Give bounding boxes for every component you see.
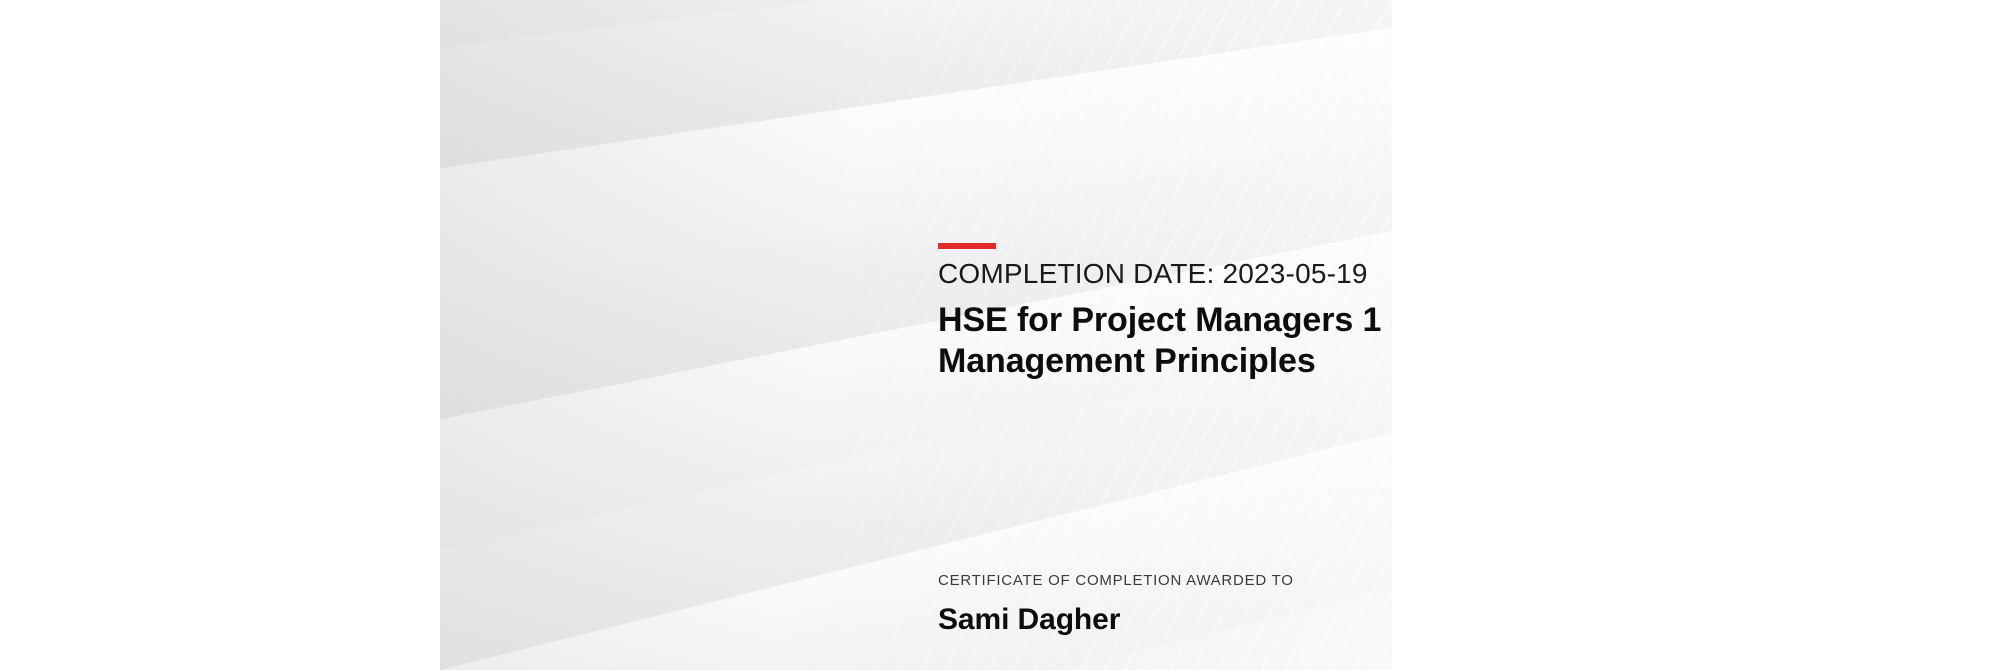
awarded-to-label: CERTIFICATE OF COMPLETION AWARDED TO xyxy=(938,572,1294,589)
red-accent-bar xyxy=(938,243,996,249)
screenshot-root: COMPLETION DATE: 2023-05-19 HSE for Proj… xyxy=(0,0,2012,670)
course-title: HSE for Project Managers 1 - HSE Managem… xyxy=(938,300,1392,383)
certificate-card: COMPLETION DATE: 2023-05-19 HSE for Proj… xyxy=(440,0,1392,670)
recipient-name: Sami Dagher xyxy=(938,603,1120,637)
completion-date: COMPLETION DATE: 2023-05-19 xyxy=(938,258,1368,290)
